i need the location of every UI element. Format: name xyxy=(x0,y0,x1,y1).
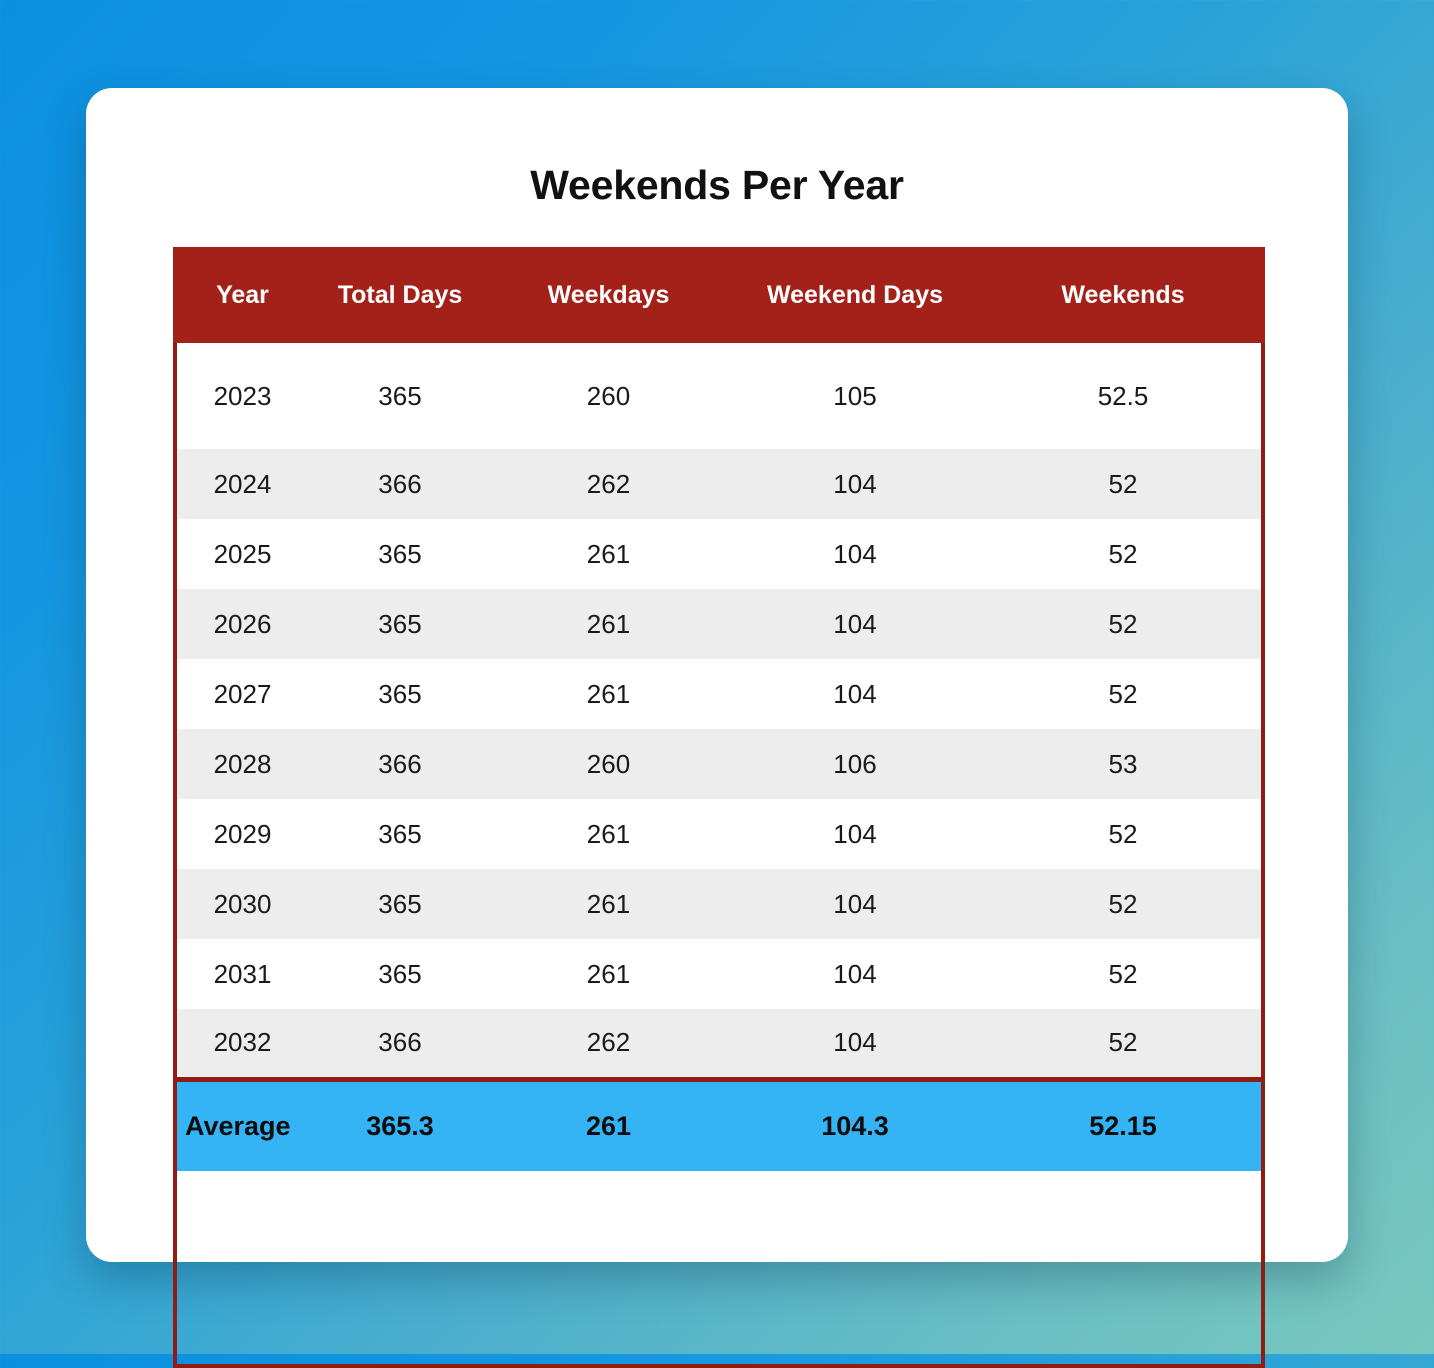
cell-weekdays: 260 xyxy=(488,729,729,799)
cell-weekdays: 261 xyxy=(488,589,729,659)
cell-year: 2032 xyxy=(173,1009,312,1079)
cell-weekdays: 262 xyxy=(488,449,729,519)
cell-weekend-days: 104 xyxy=(729,869,981,939)
cell-year: 2031 xyxy=(173,939,312,1009)
table-row[interactable]: 2028 366 260 106 53 xyxy=(173,729,1265,799)
cell-total-days: 366 xyxy=(312,449,488,519)
column-header-year[interactable]: Year xyxy=(173,247,312,343)
cell-weekend-days: 104 xyxy=(729,449,981,519)
cell-total-days: 365 xyxy=(312,659,488,729)
cell-weekend-days: 106 xyxy=(729,729,981,799)
cell-year: 2026 xyxy=(173,589,312,659)
cell-weekdays: 261 xyxy=(488,869,729,939)
cell-weekdays: 260 xyxy=(488,343,729,449)
table-row[interactable]: 2031 365 261 104 52 xyxy=(173,939,1265,1009)
cell-weekdays: 261 xyxy=(488,799,729,869)
average-row[interactable]: Average 365.3 261 104.3 52.15 xyxy=(173,1079,1265,1171)
cell-weekends: 52 xyxy=(981,1009,1265,1079)
column-header-weekend-days[interactable]: Weekend Days xyxy=(729,247,981,343)
cell-average-weekdays: 261 xyxy=(488,1079,729,1171)
column-header-weekends[interactable]: Weekends xyxy=(981,247,1265,343)
weekends-per-year-table: Year Total Days Weekdays Weekend Days We… xyxy=(173,247,1265,1171)
cell-total-days: 365 xyxy=(312,343,488,449)
cell-year: 2025 xyxy=(173,519,312,589)
cell-weekdays: 261 xyxy=(488,939,729,1009)
cell-total-days: 365 xyxy=(312,519,488,589)
header-row: Year Total Days Weekdays Weekend Days We… xyxy=(173,247,1265,343)
table-row[interactable]: 2025 365 261 104 52 xyxy=(173,519,1265,589)
table-container: Year Total Days Weekdays Weekend Days We… xyxy=(173,247,1265,1171)
cell-year: 2027 xyxy=(173,659,312,729)
cell-year: 2028 xyxy=(173,729,312,799)
cell-weekend-days: 104 xyxy=(729,939,981,1009)
cell-weekend-days: 104 xyxy=(729,519,981,589)
cell-year: 2030 xyxy=(173,869,312,939)
cell-year: 2024 xyxy=(173,449,312,519)
cell-average-weekends: 52.15 xyxy=(981,1079,1265,1171)
cell-weekdays: 261 xyxy=(488,659,729,729)
page-title: Weekends Per Year xyxy=(86,88,1348,209)
table-row[interactable]: 2023 365 260 105 52.5 xyxy=(173,343,1265,449)
table-row[interactable]: 2026 365 261 104 52 xyxy=(173,589,1265,659)
cell-weekends: 52 xyxy=(981,659,1265,729)
table-row[interactable]: 2030 365 261 104 52 xyxy=(173,869,1265,939)
content-card: Weekends Per Year Year Total Days Weekda… xyxy=(86,88,1348,1262)
cell-weekend-days: 105 xyxy=(729,343,981,449)
cell-total-days: 365 xyxy=(312,939,488,1009)
table-row[interactable]: 2032 366 262 104 52 xyxy=(173,1009,1265,1079)
cell-average-label: Average xyxy=(173,1079,312,1171)
cell-total-days: 365 xyxy=(312,869,488,939)
cell-weekdays: 262 xyxy=(488,1009,729,1079)
table-footer: Average 365.3 261 104.3 52.15 xyxy=(173,1079,1265,1171)
cell-weekend-days: 104 xyxy=(729,1009,981,1079)
cell-weekend-days: 104 xyxy=(729,589,981,659)
cell-year: 2029 xyxy=(173,799,312,869)
page-root: Weekends Per Year Year Total Days Weekda… xyxy=(0,0,1434,1354)
cell-weekdays: 261 xyxy=(488,519,729,589)
cell-total-days: 365 xyxy=(312,589,488,659)
cell-weekends: 52 xyxy=(981,869,1265,939)
cell-weekend-days: 104 xyxy=(729,659,981,729)
cell-total-days: 365 xyxy=(312,799,488,869)
cell-weekends: 52 xyxy=(981,519,1265,589)
table-row[interactable]: 2029 365 261 104 52 xyxy=(173,799,1265,869)
cell-year: 2023 xyxy=(173,343,312,449)
cell-average-weekend-days: 104.3 xyxy=(729,1079,981,1171)
table-row[interactable]: 2024 366 262 104 52 xyxy=(173,449,1265,519)
cell-weekends: 52 xyxy=(981,799,1265,869)
column-header-total-days[interactable]: Total Days xyxy=(312,247,488,343)
cell-weekends: 52 xyxy=(981,589,1265,659)
column-header-weekdays[interactable]: Weekdays xyxy=(488,247,729,343)
table-row[interactable]: 2027 365 261 104 52 xyxy=(173,659,1265,729)
cell-weekends: 52 xyxy=(981,449,1265,519)
cell-weekend-days: 104 xyxy=(729,799,981,869)
cell-average-total-days: 365.3 xyxy=(312,1079,488,1171)
table-body: 2023 365 260 105 52.5 2024 366 262 104 5… xyxy=(173,343,1265,1079)
table-header: Year Total Days Weekdays Weekend Days We… xyxy=(173,247,1265,343)
cell-weekends: 52.5 xyxy=(981,343,1265,449)
cell-weekends: 52 xyxy=(981,939,1265,1009)
cell-total-days: 366 xyxy=(312,1009,488,1079)
cell-total-days: 366 xyxy=(312,729,488,799)
cell-weekends: 53 xyxy=(981,729,1265,799)
